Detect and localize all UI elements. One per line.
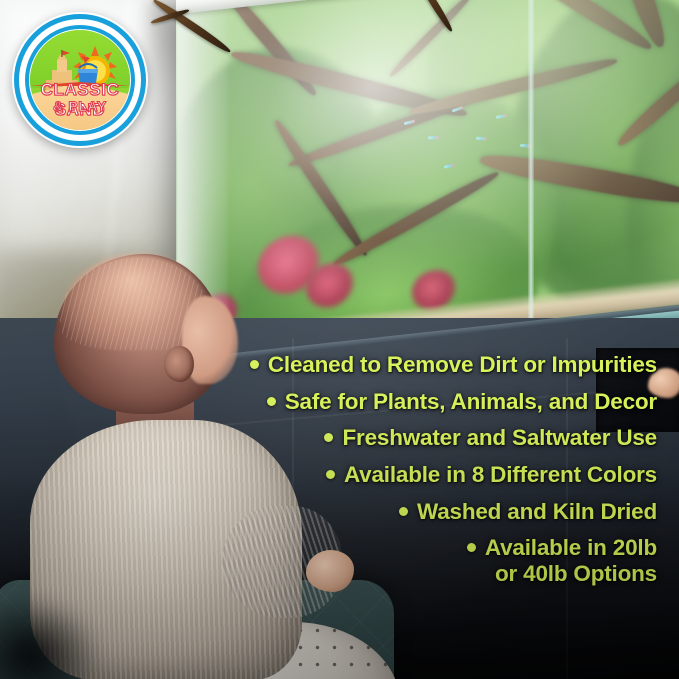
toddler-hand: [306, 550, 354, 592]
feature-label: Freshwater and Saltwater Use: [342, 425, 657, 451]
feature-label: Safe for Plants, Animals, and Decor: [285, 389, 657, 415]
logo-inner-ring: [25, 25, 135, 135]
feature-item-water-type: Freshwater and Saltwater Use: [324, 425, 657, 451]
toddler-ear: [164, 346, 194, 382]
feature-label: Washed and Kiln Dried: [417, 499, 657, 525]
feature-label-line-1: Available in 20lb: [485, 535, 657, 560]
aquarium-glass-seam: [528, 0, 534, 324]
bullet-dot-icon: [267, 397, 276, 406]
feature-item-sizes: Available in 20lbor 40lb Options: [467, 535, 657, 586]
bullet-dot-icon: [399, 507, 408, 516]
feature-item-washed: Washed and Kiln Dried: [399, 499, 657, 525]
bullet-dot-icon: [467, 543, 476, 552]
feature-label: Available in 20lbor 40lb Options: [485, 535, 657, 586]
feature-label-line-2: or 40lb Options: [495, 561, 657, 586]
feature-label: Cleaned to Remove Dirt or Impurities: [268, 352, 657, 378]
bottom-left-shadow: [0, 596, 100, 679]
feature-item-cleaned: Cleaned to Remove Dirt or Impurities: [250, 352, 657, 378]
feature-label: Available in 8 Different Colors: [344, 462, 657, 488]
bullet-dot-icon: [250, 360, 259, 369]
bullet-dot-icon: [324, 433, 333, 442]
feature-item-colors: Available in 8 Different Colors: [326, 462, 657, 488]
product-image-canvas: Cleaned to Remove Dirt or Impurities Saf…: [0, 0, 679, 679]
feature-item-safe: Safe for Plants, Animals, and Decor: [267, 389, 657, 415]
bullet-dot-icon: [326, 470, 335, 479]
classic-sand-and-play-logo: CLASSIC SAND & PLAY: [12, 12, 148, 148]
